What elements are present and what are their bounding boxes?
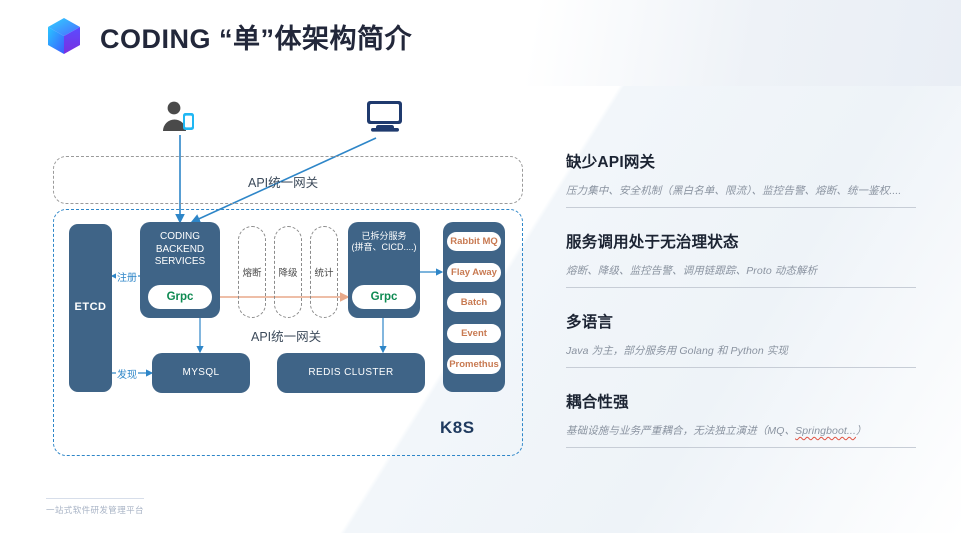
key-points-list: 缺少API网关 压力集中、安全机制（黑白名单、限流）、监控告警、熔断、统一鉴权.… bbox=[566, 150, 916, 470]
k8s-label: K8S bbox=[440, 418, 475, 438]
dashed-pill-fusing: 熔断 bbox=[238, 226, 266, 318]
point-sub-coupling-post: ） bbox=[856, 425, 867, 437]
node-backend-line2: BACKEND bbox=[156, 244, 204, 257]
middleware-pill-event: Event bbox=[447, 324, 501, 343]
point-sub-coupling-misspelled: Springboot... bbox=[795, 425, 856, 437]
grpc-pill-left: Grpc bbox=[148, 285, 212, 309]
point-title-governance: 服务调用处于无治理状态 bbox=[566, 230, 916, 252]
point-sub-governance: 熔断、降级、监控告警、调用链跟踪、Proto 动态解析 bbox=[566, 263, 916, 288]
dashed-pill-stats: 统计 bbox=[310, 226, 338, 318]
point-item-coupling: 耦合性强 基础设施与业务严重耦合，无法独立演进（MQ、Springboot...… bbox=[566, 390, 916, 448]
node-mysql: MYSQL bbox=[152, 353, 250, 393]
node-backend-line3: SERVICES bbox=[155, 256, 205, 269]
grpc-pill-left-label: Grpc bbox=[167, 291, 194, 303]
middleware-pill-rabbitmq-label: Rabbit MQ bbox=[450, 236, 498, 247]
node-backend-line1: CODING bbox=[160, 231, 200, 244]
slide-canvas: CODING “单”体架构简介 bbox=[0, 0, 961, 533]
dashed-pill-degrade: 降级 bbox=[274, 226, 302, 318]
footer-tagline: 一站式软件研发管理平台 bbox=[46, 498, 144, 516]
dashed-pill-stats-label: 统计 bbox=[314, 265, 333, 279]
middleware-pill-event-label: Event bbox=[461, 328, 487, 339]
node-split-services-line1: 已拆分服务 bbox=[361, 231, 406, 242]
middleware-pill-batch-label: Batch bbox=[461, 297, 487, 308]
middleware-pill-rabbitmq: Rabbit MQ bbox=[447, 232, 501, 251]
point-title-coupling: 耦合性强 bbox=[566, 390, 916, 412]
middleware-pill-flayaway-label: Flay Away bbox=[451, 267, 497, 278]
api-gateway-inner-label: API统一网关 bbox=[251, 326, 321, 345]
dashed-pill-fusing-label: 熔断 bbox=[242, 265, 261, 279]
middleware-pill-batch: Batch bbox=[447, 293, 501, 312]
node-etcd: ETCD bbox=[69, 224, 112, 392]
middleware-pill-flayaway: Flay Away bbox=[447, 263, 501, 282]
point-title-multilang: 多语言 bbox=[566, 310, 916, 332]
node-redis-cluster-label: REDIS CLUSTER bbox=[308, 367, 393, 380]
middleware-pill-promethus: Promethus bbox=[447, 355, 501, 374]
grpc-pill-right: Grpc bbox=[352, 285, 416, 309]
point-item-gateway: 缺少API网关 压力集中、安全机制（黑白名单、限流）、监控告警、熔断、统一鉴权.… bbox=[566, 150, 916, 208]
arrow-label-register: 注册 bbox=[116, 269, 138, 284]
point-title-gateway: 缺少API网关 bbox=[566, 150, 916, 172]
node-mysql-label: MYSQL bbox=[182, 367, 219, 380]
middleware-pill-promethus-label: Promethus bbox=[449, 359, 499, 370]
point-item-governance: 服务调用处于无治理状态 熔断、降级、监控告警、调用链跟踪、Proto 动态解析 bbox=[566, 230, 916, 288]
point-item-multilang: 多语言 Java 为主，部分服务用 Golang 和 Python 实现 bbox=[566, 310, 916, 368]
arrow-label-discover: 发现 bbox=[116, 366, 138, 381]
point-sub-multilang: Java 为主，部分服务用 Golang 和 Python 实现 bbox=[566, 343, 916, 368]
architecture-diagram: API统一网关 ETCD CODING BACKEND SERVICES Grp… bbox=[0, 0, 560, 533]
point-sub-gateway: 压力集中、安全机制（黑白名单、限流）、监控告警、熔断、统一鉴权.... bbox=[566, 183, 916, 208]
node-etcd-label: ETCD bbox=[75, 301, 107, 315]
dashed-pill-degrade-label: 降级 bbox=[278, 265, 297, 279]
grpc-pill-right-label: Grpc bbox=[371, 291, 398, 303]
node-redis-cluster: REDIS CLUSTER bbox=[277, 353, 425, 393]
point-sub-coupling: 基础设施与业务严重耦合，无法独立演进（MQ、Springboot...） bbox=[566, 423, 916, 448]
api-gateway-region-label: API统一网关 bbox=[248, 172, 318, 191]
point-sub-coupling-pre: 基础设施与业务严重耦合，无法独立演进（MQ、 bbox=[566, 425, 795, 437]
node-split-services-line2: (拼音、CICD....) bbox=[352, 242, 417, 253]
